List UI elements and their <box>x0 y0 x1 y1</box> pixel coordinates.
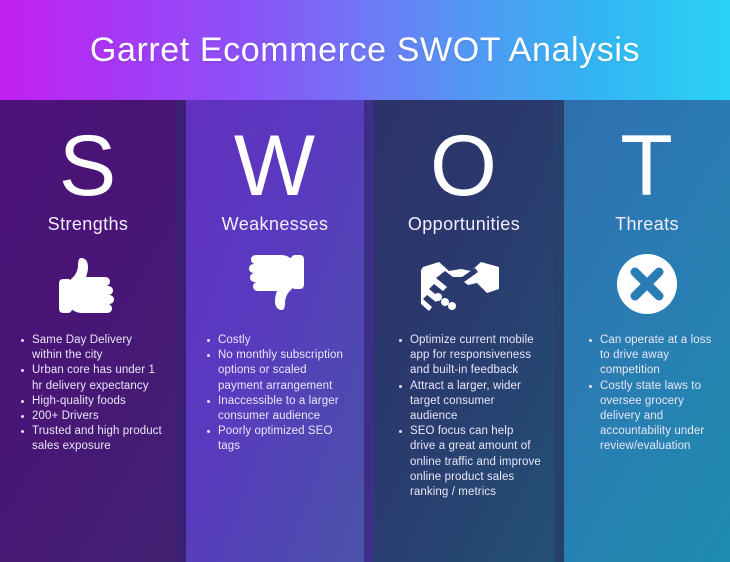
swot-columns: S Strengths Same Day Delivery within the… <box>0 100 730 562</box>
circle-x-icon <box>564 247 730 321</box>
swot-label-strengths: Strengths <box>0 214 176 235</box>
list-item: 200+ Drivers <box>20 409 164 424</box>
swot-label-threats: Threats <box>564 214 730 235</box>
swot-bullets-weaknesses: Costly No monthly subscription options o… <box>186 333 364 455</box>
swot-bullets-threats: Can operate at a loss to drive away comp… <box>564 333 730 455</box>
handshake-icon <box>374 247 554 321</box>
list-item: Same Day Delivery within the city <box>20 333 164 363</box>
swot-label-opportunities: Opportunities <box>374 214 554 235</box>
list-item: High-quality foods <box>20 394 164 409</box>
list-item: SEO focus can help drive a great amount … <box>398 424 542 500</box>
list-item: Inaccessible to a larger consumer audien… <box>206 394 352 424</box>
list-item: Costly state laws to oversee grocery del… <box>588 379 722 455</box>
swot-column-strengths[interactable]: S Strengths Same Day Delivery within the… <box>0 100 176 562</box>
list-item: Attract a larger, wider target consumer … <box>398 379 542 425</box>
list-item: Costly <box>206 333 352 348</box>
column-divider-3 <box>554 100 564 562</box>
list-item: Optimize current mobile app for responsi… <box>398 333 542 379</box>
swot-letter-o: O <box>374 120 554 212</box>
list-item: No monthly subscription options or scale… <box>206 348 352 394</box>
swot-label-weaknesses: Weaknesses <box>186 214 364 235</box>
swot-column-opportunities[interactable]: O Opportunities Optimize current mobile … <box>374 100 554 562</box>
swot-letter-w: W <box>186 120 364 212</box>
list-item: Trusted and high product sales exposure <box>20 424 164 454</box>
list-item: Poorly optimized SEO tags <box>206 424 352 454</box>
column-divider-2 <box>364 100 374 562</box>
swot-column-weaknesses[interactable]: W Weaknesses Costly No monthly subscript… <box>186 100 364 562</box>
swot-column-threats[interactable]: T Threats Can operate at a loss to drive… <box>564 100 730 562</box>
swot-bullets-opportunities: Optimize current mobile app for responsi… <box>374 333 554 500</box>
list-item: Can operate at a loss to drive away comp… <box>588 333 722 379</box>
swot-bullets-strengths: Same Day Delivery within the city Urban … <box>0 333 176 455</box>
poster-header: Garret Ecommerce SWOT Analysis <box>0 0 730 100</box>
swot-poster: Garret Ecommerce SWOT Analysis S Strengt… <box>0 0 730 562</box>
page-title: Garret Ecommerce SWOT Analysis <box>90 31 640 70</box>
thumbs-up-icon <box>0 247 176 321</box>
thumbs-down-icon <box>186 247 364 321</box>
column-divider-1 <box>176 100 186 562</box>
swot-letter-s: S <box>0 120 176 212</box>
list-item: Urban core has under 1 hr delivery expec… <box>20 363 164 393</box>
swot-letter-t: T <box>564 120 730 212</box>
